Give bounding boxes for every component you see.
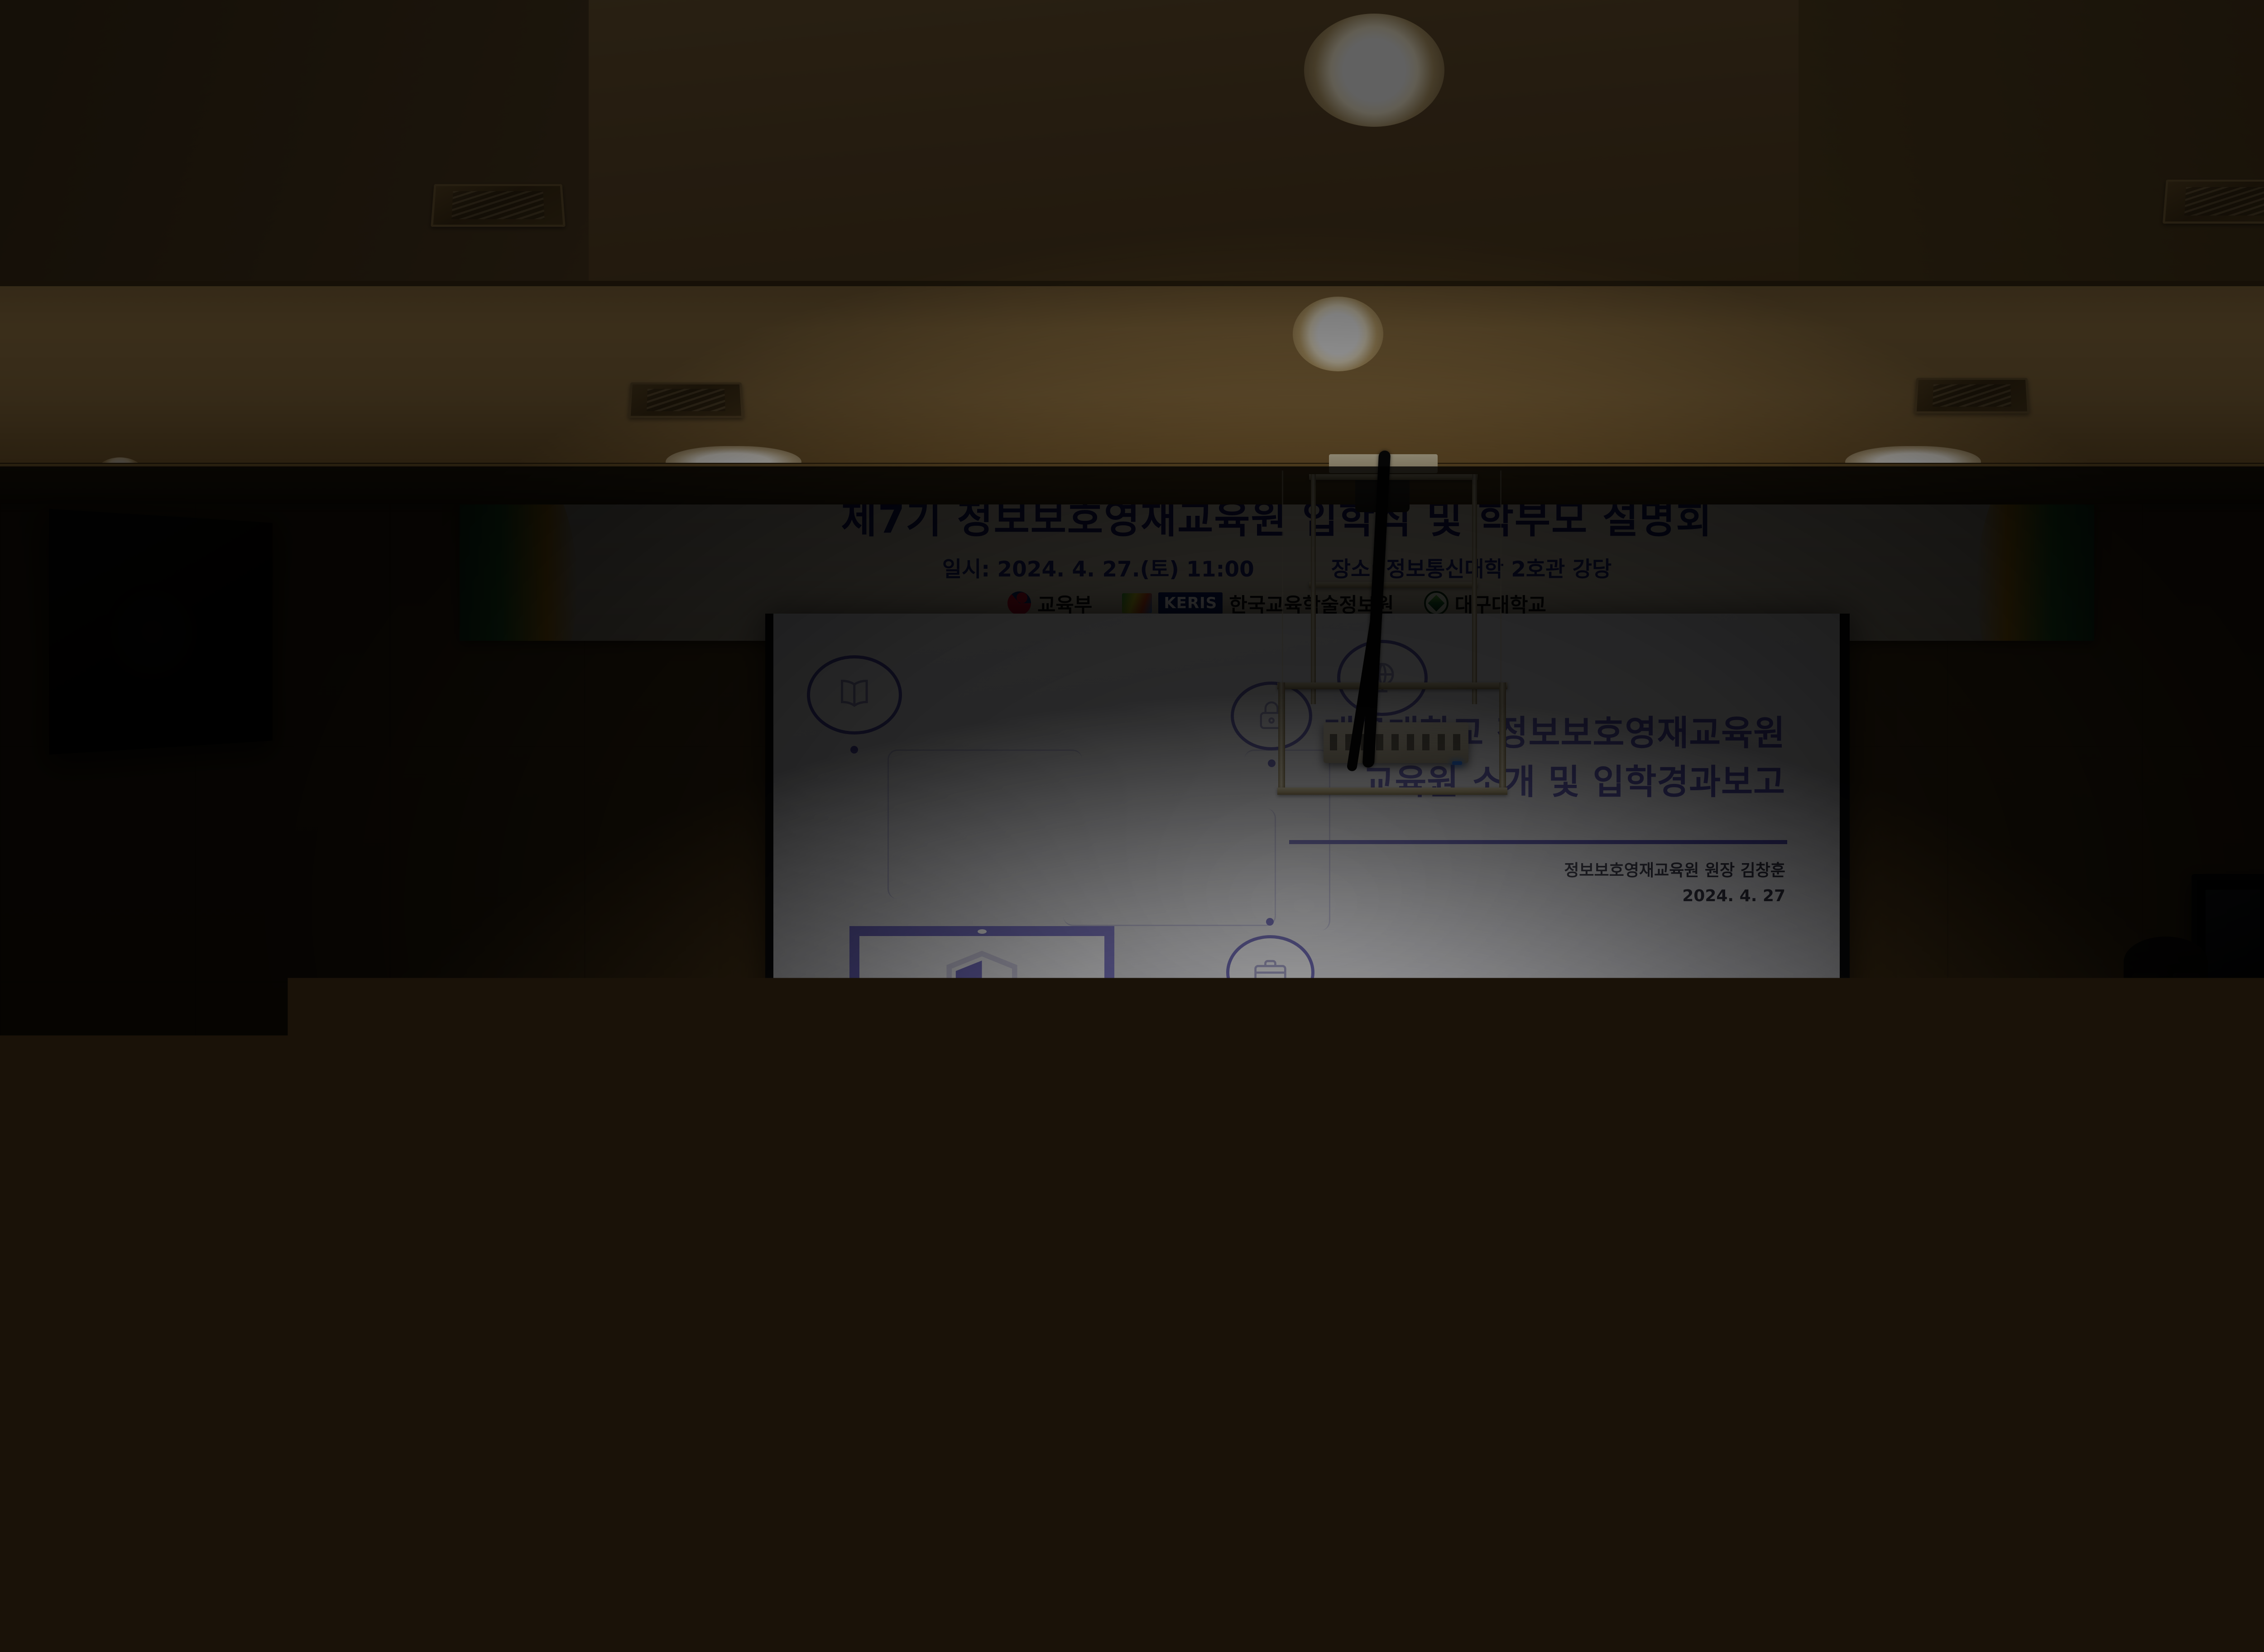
projector-frame-rod <box>1472 474 1477 704</box>
ceiling-air-vent <box>1914 378 2030 413</box>
glasses-lens-left <box>2132 973 2159 991</box>
stage-floor-socket <box>1277 1359 1313 1370</box>
audience-head <box>1487 1485 1601 1652</box>
audience-head <box>842 1282 949 1422</box>
audience-shoulders <box>2101 1590 2255 1652</box>
glasses-icon <box>2132 973 2200 991</box>
audience-head <box>514 1349 611 1494</box>
open-book-bubble <box>807 655 902 735</box>
audience-head <box>276 1377 378 1526</box>
ceiling-soffit <box>0 281 2264 471</box>
audience-head <box>171 1535 284 1652</box>
keris-wordmark: KERIS <box>1158 592 1223 614</box>
seat <box>0 1393 136 1515</box>
slide-presenter-line: 정보보호영재교육원 원장 김창훈 <box>1564 858 1785 884</box>
laptop-camera-icon <box>978 929 987 934</box>
slide-subtitle-block: 정보보호영재교육원 원장 김창훈 2024. 4. 27 <box>1564 858 1785 909</box>
podium <box>0 1087 118 1431</box>
auditorium-photo: 제7기 정보보호영재교육원 입학식 및 학부모 설명회 일시: 2024. 4.… <box>0 0 2264 1652</box>
ceiling-air-vent <box>628 382 744 418</box>
open-book-icon <box>829 674 880 716</box>
laptop-illustration <box>849 926 1114 1062</box>
hair-scrunchie <box>435 1364 474 1394</box>
projector-safety-wire <box>1500 471 1501 683</box>
presenter <box>2051 933 2264 1386</box>
audience-head <box>1850 1531 1981 1652</box>
laptop-hinge <box>1278 1060 1335 1066</box>
projector-rig <box>1275 451 1510 795</box>
projector-safety-wire <box>1282 471 1283 683</box>
ceiling-shadow-left <box>0 0 589 290</box>
audience-shoulders <box>813 1406 980 1652</box>
glasses-bridge <box>2159 980 2173 982</box>
stage-floor-socket <box>1182 1379 1218 1391</box>
projector-frame-rod <box>1311 474 1316 704</box>
computer-mouse-icon <box>1136 1139 1168 1189</box>
briefcase-bubble <box>1226 935 1314 1010</box>
taegeuk-icon <box>1007 591 1031 615</box>
daegu-university-seal-icon <box>14 1147 49 1181</box>
glasses-lens-right <box>2173 973 2200 991</box>
audience-head <box>63 1585 186 1652</box>
shield-icon <box>940 949 1024 1039</box>
projector-frame-bar <box>1309 474 1477 480</box>
left-wall-speaker <box>49 509 272 755</box>
slide-connector-line <box>887 749 1082 899</box>
ceiling-beam-occluder <box>0 464 2264 504</box>
slide-date-line: 2024. 4. 27 <box>1564 884 1785 909</box>
pointing-hand-icon <box>945 1072 999 1162</box>
projector-cage-rod <box>1499 682 1506 795</box>
projector-power-led <box>1452 761 1462 765</box>
audience-head <box>1096 1546 1209 1652</box>
projector-body <box>1324 722 1468 763</box>
audience-head <box>1340 1575 1453 1652</box>
keris-icon <box>1122 593 1152 613</box>
projector-frame-bar <box>1309 582 1477 588</box>
ceiling-downlight <box>1304 14 1444 127</box>
projector-cage-bar <box>1277 682 1507 689</box>
ceiling-shadow-right <box>1799 0 2264 317</box>
audience-head <box>421 1361 523 1537</box>
audience-head <box>1660 1433 1748 1578</box>
ceiling-air-vent <box>431 184 566 226</box>
speaker-cone <box>106 582 197 681</box>
handout-paper <box>1784 1364 1843 1436</box>
projector-cage-bar <box>1277 788 1507 795</box>
slide-node-dot <box>850 746 858 754</box>
slide-divider-rule <box>1289 840 1787 844</box>
stage-floor-socket <box>1286 1380 1322 1392</box>
banner-date: 일시: 2024. 4. 27.(토) 11:00 <box>942 552 1254 583</box>
projector-cage-rod <box>1278 682 1285 795</box>
soffit-top-edge <box>0 281 2264 286</box>
ceiling-air-vent <box>2163 180 2264 224</box>
beam-downlight <box>1293 297 1383 371</box>
seat <box>140 1386 276 1510</box>
briefcase-icon <box>1247 953 1294 993</box>
handout-paper <box>1519 1363 1578 1436</box>
audience-head <box>500 1508 614 1652</box>
slide-node-dot <box>1266 918 1274 926</box>
